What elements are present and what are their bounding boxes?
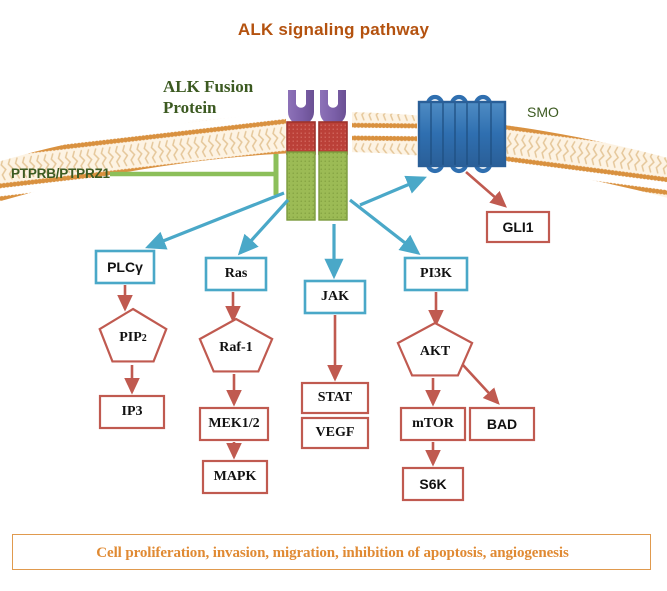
receptor-transmembrane-domain (287, 122, 347, 154)
node-shape-s6k[interactable] (403, 468, 463, 500)
pathway-diagram: ALK signaling pathway ALK Fusion Protein… (0, 0, 667, 591)
alk-fusion-receptor (287, 90, 347, 220)
node-shape-ras[interactable] (206, 258, 266, 290)
receptor-activation-arrows (148, 178, 424, 276)
node-shape-pi3k[interactable] (405, 258, 467, 290)
node-shape-mtor[interactable] (401, 408, 465, 440)
ptprb-ptprz1-label: PTPRB/PTPRZ1 (11, 166, 110, 181)
node-shape-pip2[interactable] (100, 309, 167, 361)
receptor-intracellular-domain (287, 152, 347, 220)
node-shape-raf1[interactable] (200, 319, 272, 371)
page-title: ALK signaling pathway (0, 20, 667, 40)
alk-fusion-protein-label-line2: Protein (163, 97, 253, 118)
alk-fusion-protein-label-line1: ALK Fusion (163, 76, 253, 97)
node-shape-mapk[interactable] (203, 461, 267, 493)
smo-label: SMO (527, 104, 559, 120)
pathway-node-shapes (96, 212, 549, 500)
outcome-text: Cell proliferation, invasion, migration,… (13, 535, 652, 571)
diagram-graphics (0, 0, 667, 591)
node-shape-vegf[interactable] (302, 418, 368, 448)
node-shape-bad[interactable] (470, 408, 534, 440)
edge-receptor-to-plcg (148, 193, 284, 247)
node-shape-ip3[interactable] (100, 396, 164, 428)
smo-receptor (419, 97, 505, 171)
alk-fusion-protein-label: ALK Fusion Protein (163, 76, 253, 118)
edge-receptor-to-pi3k (350, 200, 418, 253)
edge-smo-to-gli1 (466, 172, 505, 206)
outcome-box: Cell proliferation, invasion, migration,… (12, 534, 651, 570)
edge-receptor-to-smo (360, 178, 424, 205)
node-shape-jak[interactable] (305, 281, 365, 313)
node-shape-akt[interactable] (398, 323, 472, 375)
edge-akt-to-bad (463, 365, 498, 403)
receptor-extracellular-domain (288, 90, 346, 125)
node-shape-gli1[interactable] (487, 212, 549, 242)
node-shape-plcg[interactable] (96, 251, 154, 283)
node-shape-stat[interactable] (302, 383, 368, 413)
node-shape-mek12[interactable] (200, 408, 268, 440)
